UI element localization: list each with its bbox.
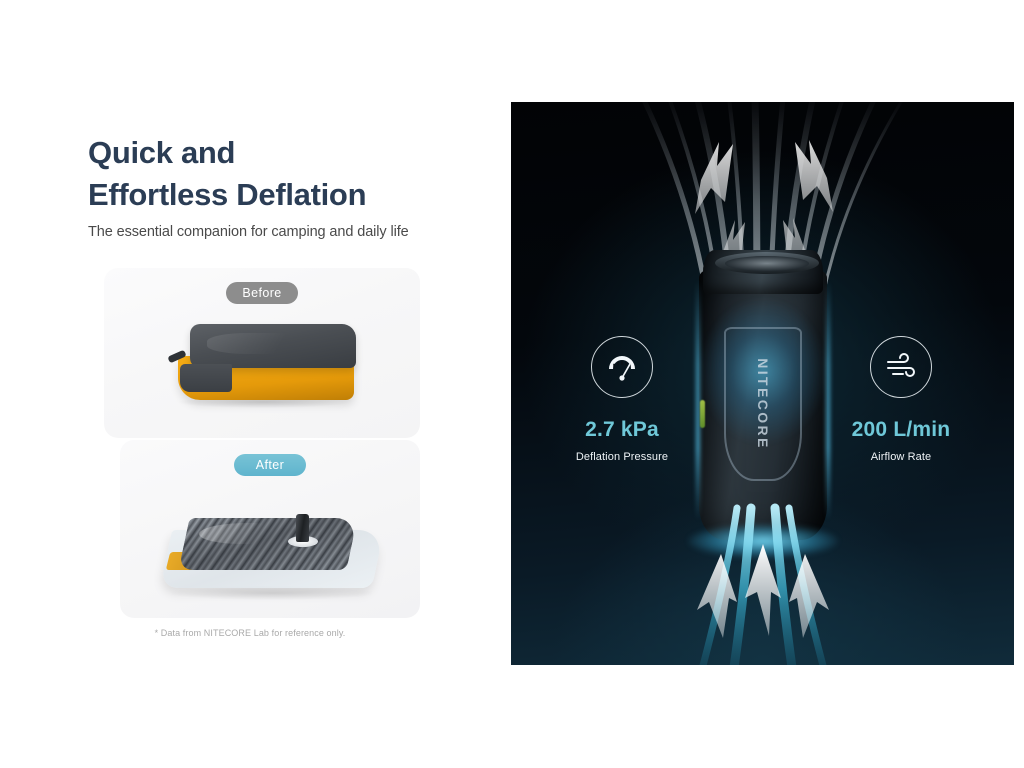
product-hero-panel: NITECORE [511,102,1014,665]
bag-compressed-contents [178,518,357,570]
headline-line-1: Quick and [88,132,488,174]
nitecore-air-pump-product: NITECORE [699,250,827,540]
before-comparison-card: Before [104,268,420,438]
after-badge: After [234,454,306,476]
stat-deflation-pressure: 2.7 kPa Deflation Pressure [537,336,707,463]
product-brand-wordmark: NITECORE [755,358,771,450]
device-body: NITECORE [699,268,827,540]
folded-sleeping-pad-image [166,320,356,405]
device-cap-intake [725,256,809,271]
footnote-disclaimer: * Data from NITECORE Lab for reference o… [0,628,500,638]
headline-line-2: Effortless Deflation [88,174,488,216]
pressure-gauge-icon [591,336,653,398]
after-comparison-card: After [120,440,420,618]
page-title: Quick and Effortless Deflation [88,132,488,216]
stat-label: Deflation Pressure [537,451,707,463]
bag-valve-nozzle [296,514,309,542]
page-subtitle: The essential companion for camping and … [88,224,409,240]
stat-value: 200 L/min [816,418,986,442]
stat-airflow-rate: 200 L/min Airflow Rate [816,336,986,463]
stat-label: Airflow Rate [816,451,986,463]
pad-fold-detail [180,364,232,392]
pad-grey-layer [190,324,356,368]
stat-value: 2.7 kPa [537,418,707,442]
wind-airflow-icon [870,336,932,398]
vacuum-sealed-bag-image [166,512,378,592]
before-badge: Before [226,282,298,304]
downward-airflow-jets [633,502,893,665]
device-top-cap [703,250,823,294]
left-content-panel: Quick and Effortless Deflation The essen… [0,0,500,768]
